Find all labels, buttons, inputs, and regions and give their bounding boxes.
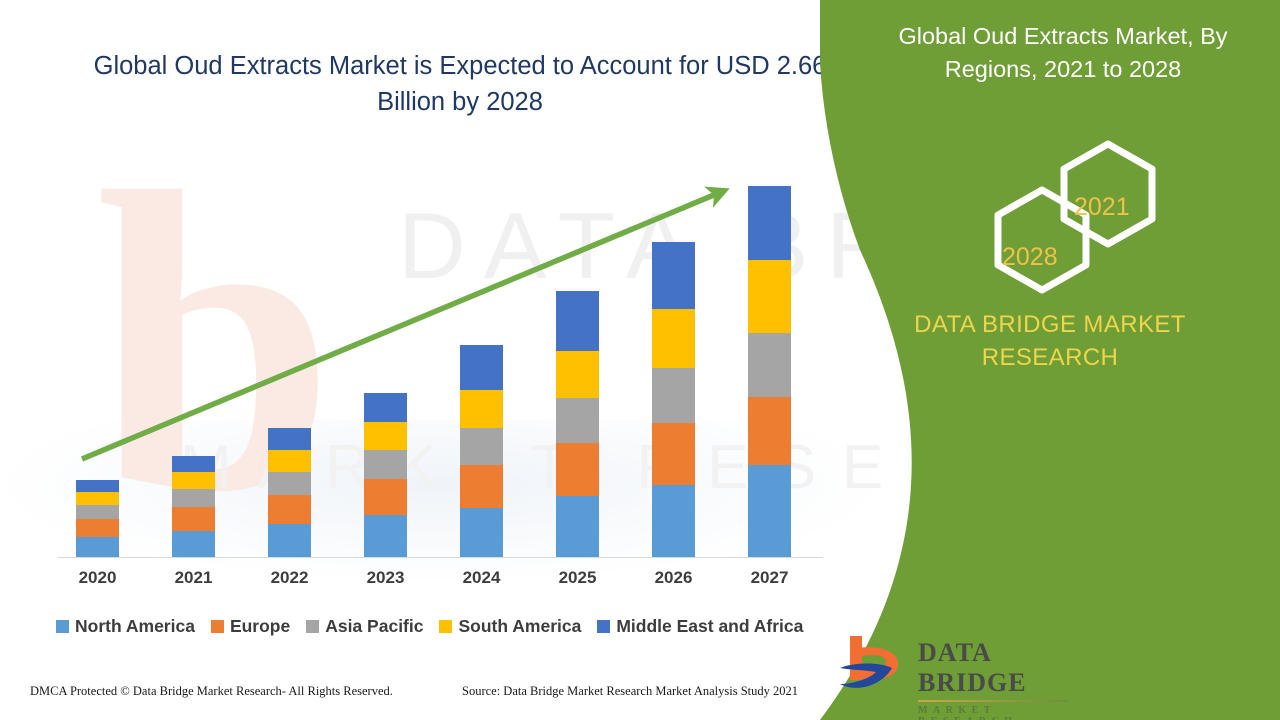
bar-segment-europe-2022: [268, 495, 311, 524]
x-tick-2025: 2025: [535, 568, 621, 588]
x-axis-line: [58, 557, 823, 558]
bar-2025: [556, 291, 599, 557]
legend-swatch-icon: [597, 620, 610, 633]
bar-segment-asia-pacific-2023: [364, 450, 407, 479]
x-tick-2024: 2024: [439, 568, 525, 588]
bar-segment-south-america-2027: [748, 260, 791, 333]
bar-segment-south-america-2026: [652, 309, 695, 368]
bar-segment-europe-2027: [748, 397, 791, 465]
bar-segment-europe-2026: [652, 423, 695, 485]
logo-text-main: DATA BRIDGE: [918, 638, 1086, 698]
x-tick-2022: 2022: [247, 568, 333, 588]
chart-legend: North AmericaEuropeAsia PacificSouth Ame…: [56, 616, 803, 637]
bar-segment-asia-pacific-2027: [748, 333, 791, 397]
legend-swatch-icon: [439, 620, 452, 633]
bar-segment-north-america-2026: [652, 485, 695, 557]
legend-swatch-icon: [56, 620, 69, 633]
bar-segment-north-america-2021: [172, 531, 215, 557]
footer-copyright: DMCA Protected © Data Bridge Market Rese…: [30, 684, 393, 699]
bar-segment-middle-east-and-africa-2025: [556, 291, 599, 351]
bar-2024: [460, 345, 503, 557]
legend-label: Europe: [230, 616, 290, 637]
legend-label: Asia Pacific: [325, 616, 423, 637]
bar-segment-middle-east-and-africa-2024: [460, 345, 503, 390]
legend-item-middle-east-and-africa[interactable]: Middle East and Africa: [597, 616, 803, 637]
brand-panel: Global Oud Extracts Market, By Regions, …: [820, 0, 1280, 720]
bar-segment-europe-2025: [556, 443, 599, 496]
panel-title: Global Oud Extracts Market, By Regions, …: [878, 20, 1248, 87]
bar-segment-middle-east-and-africa-2021: [172, 456, 215, 472]
x-tick-2026: 2026: [631, 568, 717, 588]
legend-item-europe[interactable]: Europe: [211, 616, 290, 637]
bar-segment-europe-2023: [364, 479, 407, 515]
x-tick-2021: 2021: [151, 568, 237, 588]
bar-2021: [172, 456, 215, 557]
bar-segment-north-america-2027: [748, 465, 791, 557]
x-axis-tick-labels: 20202021202220232024202520262027: [0, 568, 880, 594]
stacked-bars-group: [0, 0, 880, 557]
bar-segment-north-america-2022: [268, 524, 311, 557]
company-logo: DATA BRIDGE MARKET RESEARCH: [836, 632, 1086, 698]
bar-segment-europe-2021: [172, 507, 215, 531]
bar-segment-asia-pacific-2020: [76, 505, 119, 519]
bar-segment-south-america-2024: [460, 390, 503, 428]
bar-segment-north-america-2024: [460, 508, 503, 557]
bar-segment-asia-pacific-2021: [172, 489, 215, 507]
hexagon-label-2028: 2028: [1002, 243, 1058, 272]
bar-segment-middle-east-and-africa-2026: [652, 242, 695, 309]
bar-2020: [76, 480, 119, 557]
hexagon-label-2021: 2021: [1074, 193, 1130, 222]
bar-segment-south-america-2023: [364, 422, 407, 450]
bar-segment-middle-east-and-africa-2022: [268, 428, 311, 450]
logo-text-sub: MARKET RESEARCH: [918, 705, 1086, 720]
data-bridge-logo-icon: [836, 632, 912, 698]
logo-divider: [918, 700, 1068, 702]
bar-segment-asia-pacific-2022: [268, 472, 311, 495]
legend-label: South America: [458, 616, 581, 637]
legend-label: Middle East and Africa: [616, 616, 803, 637]
bar-segment-north-america-2025: [556, 496, 599, 557]
legend-item-asia-pacific[interactable]: Asia Pacific: [306, 616, 423, 637]
bar-segment-europe-2024: [460, 465, 503, 508]
bar-segment-south-america-2021: [172, 472, 215, 489]
x-tick-2020: 2020: [55, 568, 141, 588]
bar-2023: [364, 393, 407, 557]
bar-segment-asia-pacific-2024: [460, 428, 503, 465]
chart-plot-area: 20202021202220232024202520262027: [0, 0, 880, 600]
hexagon-year-group: 2021 2028: [970, 138, 1200, 303]
bar-segment-middle-east-and-africa-2027: [748, 186, 791, 260]
brand-name-text: DATA BRIDGE MARKET RESEARCH: [855, 308, 1245, 374]
x-tick-2027: 2027: [727, 568, 813, 588]
bar-segment-middle-east-and-africa-2020: [76, 480, 119, 492]
bar-segment-asia-pacific-2026: [652, 368, 695, 423]
bar-2022: [268, 428, 311, 557]
bar-segment-north-america-2023: [364, 515, 407, 557]
bar-segment-south-america-2022: [268, 450, 311, 472]
bar-segment-south-america-2020: [76, 492, 119, 505]
bar-segment-middle-east-and-africa-2023: [364, 393, 407, 422]
bar-segment-north-america-2020: [76, 537, 119, 557]
bar-segment-europe-2020: [76, 519, 119, 537]
x-tick-2023: 2023: [343, 568, 429, 588]
bar-segment-south-america-2025: [556, 351, 599, 398]
legend-label: North America: [75, 616, 195, 637]
bar-2027: [748, 186, 791, 557]
bar-2026: [652, 242, 695, 557]
legend-swatch-icon: [306, 620, 319, 633]
legend-swatch-icon: [211, 620, 224, 633]
legend-item-south-america[interactable]: South America: [439, 616, 581, 637]
slide-canvas: b DATA BRIDGE MARKET RESEARCH Global Oud…: [0, 0, 1280, 720]
footer-source: Source: Data Bridge Market Research Mark…: [462, 684, 798, 699]
bar-segment-asia-pacific-2025: [556, 398, 599, 443]
legend-item-north-america[interactable]: North America: [56, 616, 195, 637]
